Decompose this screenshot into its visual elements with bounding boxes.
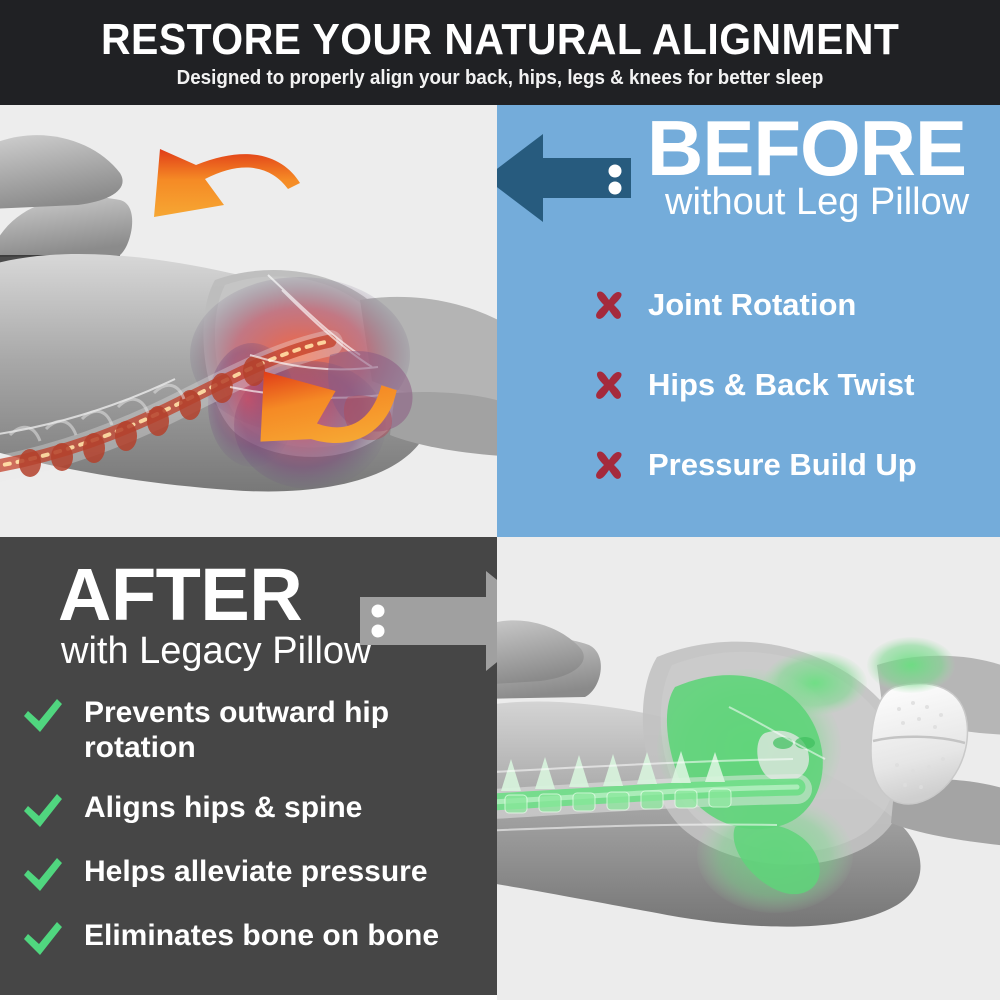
header-banner: RESTORE YOUR NATURAL ALIGNMENT Designed …	[0, 0, 1000, 105]
list-item: Aligns hips & spine	[22, 790, 492, 830]
list-item-label: Aligns hips & spine	[84, 790, 362, 825]
list-item: Helps alleviate pressure	[22, 854, 492, 894]
before-illustration-panel	[0, 105, 497, 537]
list-item-label: Pressure Build Up	[648, 447, 917, 483]
check-mark-icon	[22, 792, 64, 830]
arrow-left-icon	[497, 128, 645, 228]
list-item: Prevents outward hip rotation	[22, 695, 492, 766]
list-item-label: Joint Rotation	[648, 287, 856, 323]
side-sleeper-misaligned-spine-image	[0, 105, 497, 537]
list-item-label: Prevents outward hip rotation	[84, 695, 492, 766]
before-drawback-list: Joint Rotation Hips & Back Twist Pressur…	[592, 265, 992, 505]
bottom-edge-strip	[0, 995, 497, 1000]
list-item: Pressure Build Up	[592, 425, 992, 505]
page-title: RESTORE YOUR NATURAL ALIGNMENT	[101, 18, 899, 62]
before-title: BEFORE	[647, 111, 997, 185]
list-item-label: Eliminates bone on bone	[84, 918, 439, 953]
after-benefit-list: Prevents outward hip rotation Aligns hip…	[22, 695, 492, 982]
after-illustration-panel	[497, 537, 1000, 1000]
x-mark-icon	[592, 448, 626, 482]
check-mark-icon	[22, 697, 64, 735]
check-mark-icon	[22, 856, 64, 894]
x-mark-icon	[592, 288, 626, 322]
infographic-poster: RESTORE YOUR NATURAL ALIGNMENT Designed …	[0, 0, 1000, 1000]
before-heading-group: BEFORE without Leg Pillow	[647, 111, 997, 223]
before-subtitle: without Leg Pillow	[665, 183, 997, 223]
x-mark-icon	[592, 368, 626, 402]
side-sleeper-aligned-spine-image	[497, 537, 1000, 1000]
check-mark-icon	[22, 920, 64, 958]
before-text-panel: BEFORE without Leg Pillow Joint Rotation…	[497, 105, 1000, 537]
after-text-panel: AFTER with Legacy Pillow Prevents outwar…	[0, 537, 497, 995]
page-subtitle: Designed to properly align your back, hi…	[177, 68, 824, 88]
list-item: Hips & Back Twist	[592, 345, 992, 425]
arrow-right-icon	[358, 565, 497, 677]
list-item: Joint Rotation	[592, 265, 992, 345]
list-item-label: Helps alleviate pressure	[84, 854, 428, 889]
list-item: Eliminates bone on bone	[22, 918, 492, 958]
list-item-label: Hips & Back Twist	[648, 367, 914, 403]
